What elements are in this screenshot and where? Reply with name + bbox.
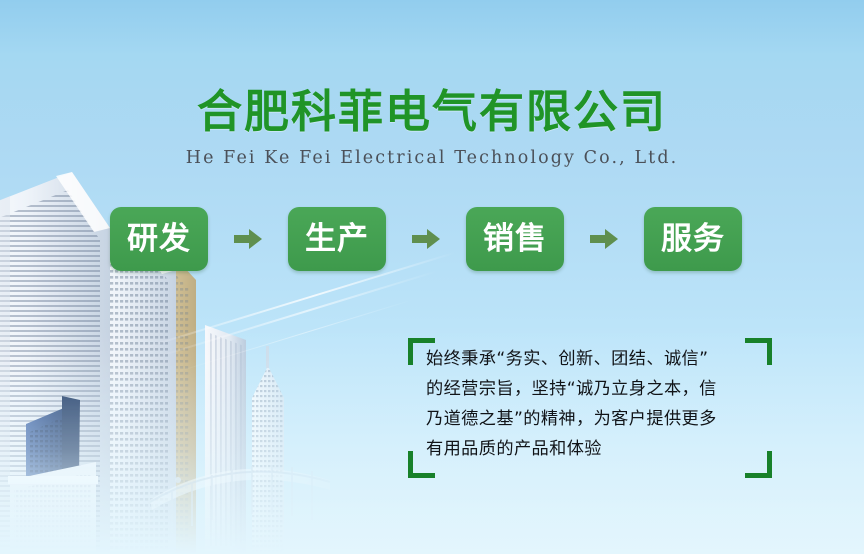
process-step-rnd[interactable]: 研发 <box>110 207 208 271</box>
philosophy-quote-box: 始终秉承“务实、创新、团结、诚信” 的经营宗旨，坚持“诚乃立身之本，信 乃道德之… <box>408 338 772 478</box>
company-name-en: He Fei Ke Fei Electrical Technology Co.,… <box>0 146 864 170</box>
process-step-label: 生产 <box>305 224 369 255</box>
process-step-label: 销售 <box>483 224 547 255</box>
company-name-cn: 合肥科菲电气有限公司 <box>0 86 864 138</box>
process-step-label: 研发 <box>127 224 191 255</box>
arrow-right-icon <box>208 227 288 251</box>
process-step-sales[interactable]: 销售 <box>466 207 564 271</box>
arrow-right-icon <box>564 227 644 251</box>
company-banner: 合肥科菲电气有限公司 He Fei Ke Fei Electrical Tech… <box>0 0 864 554</box>
quote-line: 始终秉承“务实、创新、团结、诚信” <box>426 344 766 374</box>
philosophy-quote-text: 始终秉承“务实、创新、团结、诚信” 的经营宗旨，坚持“诚乃立身之本，信 乃道德之… <box>426 344 766 464</box>
title-block: 合肥科菲电气有限公司 He Fei Ke Fei Electrical Tech… <box>0 86 864 170</box>
arrow-right-icon <box>386 227 466 251</box>
process-step-service[interactable]: 服务 <box>644 207 742 271</box>
quote-line: 的经营宗旨，坚持“诚乃立身之本，信 <box>426 374 766 404</box>
light-ray-icon <box>175 299 414 373</box>
process-step-production[interactable]: 生产 <box>288 207 386 271</box>
light-ray-icon <box>150 270 437 359</box>
process-step-label: 服务 <box>661 224 725 255</box>
quote-line: 有用品质的产品和体验 <box>426 434 766 464</box>
process-flow: 研发 生产 销售 服务 <box>110 206 770 272</box>
quote-line: 乃道德之基”的精神，为客户提供更多 <box>426 404 766 434</box>
